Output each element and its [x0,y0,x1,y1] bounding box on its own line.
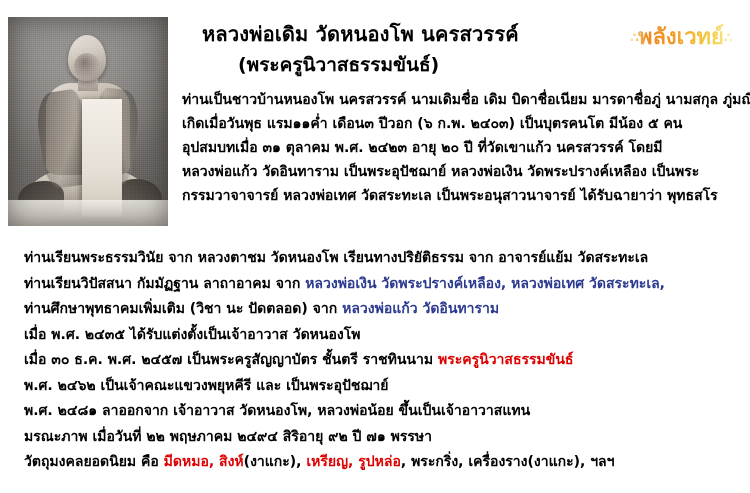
biography-lower-block: ท่านเรียนพระธรรมวินัย จาก หลวงตาชม วัดหน… [24,246,750,476]
biography-upper-paragraph: ท่านเป็นชาวบ้านหนองโพ นครสวรรค์ นามเดิมช… [182,88,748,208]
page-title-secondary: (พระครูนิวาสธรรมขันธ์) [238,50,439,80]
bio-line: หลวงพ่อแก้ว วัดอินทาราม เป็นพระอุปัชฌาย์… [182,160,748,184]
watermark-right-dots-icon: ∴ [724,31,732,46]
text-segment-black: ท่านศึกษาพุทธาคมเพิ่มเติม (วิชา นะ ปัดตล… [24,301,342,317]
text-segment-black: พ.ศ. ๒๔๖๒ เป็นเจ้าคณะแขวงพยุหคีรี และ เป… [24,378,388,394]
text-segment-black: , พระกริ่ง, เครื่องราง(งาแกะ), ฯลฯ [401,454,615,470]
document-page: หลวงพ่อเดิม วัดหนองโพ นครสวรรค์ (พระครูน… [0,0,750,493]
text-segment-red: พระครูนิวาสธรรมขันธ์ [438,352,574,368]
text-segment-black: เมื่อ ๓๐ ธ.ค. พ.ศ. ๒๔๕๗ เป็นพระครูสัญญาบ… [24,352,438,368]
photo-vignette-overlay [8,17,168,226]
line-death: มรณะภาพ เมื่อวันที่ ๒๒ พฤษภาคม ๒๔๙๔ สิริ… [24,425,750,451]
line-2462: พ.ศ. ๒๔๖๒ เป็นเจ้าคณะแขวงพยุหคีรี และ เป… [24,374,750,400]
text-segment-black: ท่านเรียนวิปัสสนา กัมมัฏฐาน ลาถาอาคม จาก [24,276,305,292]
bio-line: กรรมวาจาจารย์ หลวงพ่อเทศ วัดสระทะเล เป็น… [182,184,748,208]
text-segment-blue: หลวงพ่อเงิน วัดพระปรางค์เหลือง, หลวงพ่อเ… [305,276,665,292]
line-abbot-2435: เมื่อ พ.ศ. ๒๔๓๕ ได้รับแต่งตั้งเป็นเจ้าอา… [24,323,750,349]
line-education-3: ท่านศึกษาพุทธาคมเพิ่มเติม (วิชา นะ ปัดตล… [24,297,750,323]
text-segment-black: วัตถุมงคลยอดนิยม คือ [24,454,164,470]
bio-line: อุปสมบทเมื่อ ๓๑ ตุลาคม พ.ศ. ๒๔๒๓ อายุ ๒๐… [182,136,748,160]
watermark-left-dots-icon: ∴ [630,31,638,46]
line-education-1: ท่านเรียนพระธรรมวินัย จาก หลวงตาชม วัดหน… [24,246,750,272]
text-segment-blue: หลวงพ่อแก้ว วัดอินทาราม [342,301,499,317]
page-title-primary: หลวงพ่อเดิม วัดหนองโพ นครสวรรค์ [202,18,519,50]
line-title-2450: เมื่อ ๓๐ ธ.ค. พ.ศ. ๒๔๕๗ เป็นพระครูสัญญาบ… [24,348,750,374]
line-2481: พ.ศ. ๒๔๘๑ ลาออกจาก เจ้าอาวาส วัดหนองโพ, … [24,399,750,425]
monk-portrait-photo [8,17,168,226]
page-header: หลวงพ่อเดิม วัดหนองโพ นครสวรรค์ (พระครูน… [178,10,750,82]
site-watermark-logo: ∴พลังเวทย์∴ [630,19,732,54]
text-segment-red: เหรียญ, รูปหล่อ [306,454,400,470]
text-segment-black: ท่านเรียนพระธรรมวินัย จาก หลวงตาชม วัดหน… [24,250,648,266]
line-education-2: ท่านเรียนวิปัสสนา กัมมัฏฐาน ลาถาอาคม จาก… [24,272,750,298]
watermark-label: พลังเวทย์ [638,25,724,50]
line-amulets: วัตถุมงคลยอดนิยม คือ มีดหมอ, สิงห์(งาแกะ… [24,450,750,476]
text-segment-black: พ.ศ. ๒๔๘๑ ลาออกจาก เจ้าอาวาส วัดหนองโพ, … [24,403,530,419]
text-segment-black: เมื่อ พ.ศ. ๒๔๓๕ ได้รับแต่งตั้งเป็นเจ้าอา… [24,327,360,343]
bio-line: เกิดเมื่อวันพุธ แรม๑๑ค่ำ เดือน๓ ปีวอก (๖… [182,112,748,136]
text-segment-black: มรณะภาพ เมื่อวันที่ ๒๒ พฤษภาคม ๒๔๙๔ สิริ… [24,429,432,445]
text-segment-black: (งาแกะ), [244,454,307,470]
bio-line: ท่านเป็นชาวบ้านหนองโพ นครสวรรค์ นามเดิมช… [182,88,748,112]
text-segment-red: มีดหมอ, สิงห์ [164,454,244,470]
